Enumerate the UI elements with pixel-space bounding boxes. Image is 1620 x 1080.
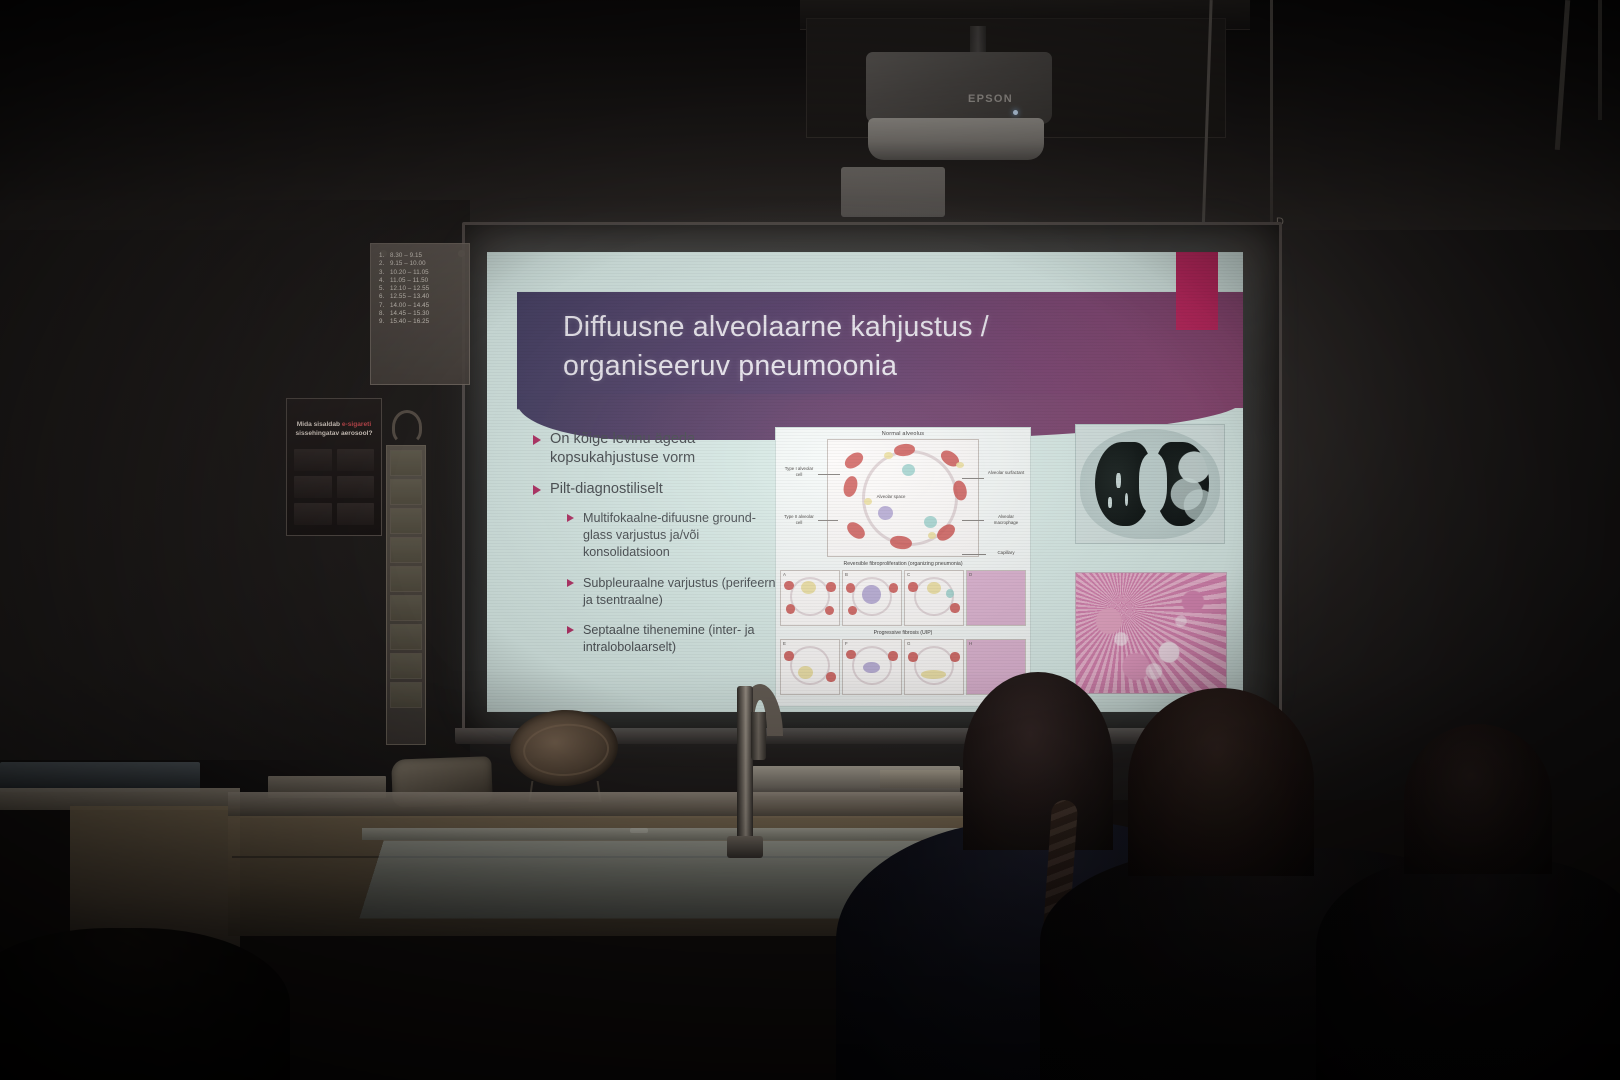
figure-panel: B: [842, 570, 902, 626]
hanging-cord-right-2: [1598, 0, 1602, 120]
capillary-blob-icon: [842, 449, 866, 471]
schedule-index: 1.: [379, 252, 390, 260]
poster-title-c: sissehingatav aerosool?: [296, 430, 373, 437]
panel-letter: F: [845, 641, 848, 646]
sink-rim: [362, 828, 1002, 840]
schedule-row: 8.14.45 – 15.30: [379, 310, 463, 318]
schedule-row: 4.11.05 – 11.50: [379, 277, 463, 285]
projector-body[interactable]: [866, 52, 1052, 124]
histology-image: [1075, 572, 1227, 694]
poster-content-grid: [294, 449, 374, 525]
surfactant-blob-icon: [884, 452, 893, 459]
ct-thorax-outline: [1080, 429, 1220, 539]
schedule-time: 8.30 – 9.15: [390, 252, 422, 259]
class-schedule-poster: 1.8.30 – 9.15 2.9.15 – 10.00 3.10.20 – 1…: [370, 243, 470, 385]
schedule-index: 6.: [379, 293, 390, 301]
schedule-row: 3.10.20 – 11.05: [379, 269, 463, 277]
bullet-item: Pilt-diagnostiliselt: [533, 480, 785, 499]
bullet-text: Pilt-diagnostiliselt: [550, 480, 663, 499]
classroom-scene: EPSON D Diffuusne alveolaarne kahjustus …: [0, 0, 1620, 1080]
sub-bullet-item: Multifokaalne-difuusne ground-glass varj…: [567, 510, 785, 561]
panel-letter: E: [783, 641, 786, 646]
figure-panel: G: [904, 639, 964, 695]
panel-letter: D: [969, 572, 972, 577]
schedule-time: 12.55 – 13.40: [390, 293, 429, 300]
schedule-index: 5.: [379, 285, 390, 293]
figure-label-macrophage: Alveolar macrophage: [986, 514, 1026, 525]
triangle-bullet-icon: [567, 579, 574, 587]
book-right: [880, 770, 966, 788]
wall-mounted-device-box[interactable]: [841, 167, 945, 217]
figure-panel-row-3: E F G: [776, 639, 1030, 695]
slide-title-line-1: Diffuusne alveolaarne kahjustus /: [563, 308, 1183, 347]
panel-letter: H: [969, 641, 972, 646]
ct-mediastinum: [1139, 453, 1167, 512]
schedule-row: 2.9.15 – 10.00: [379, 260, 463, 268]
ceiling-cable-secondary: [1270, 0, 1273, 222]
bullet-text: On kõige levinu ägeda kopsukahjustuse vo…: [550, 430, 785, 469]
lab-bench-top: [228, 792, 980, 818]
student-braid-head: [963, 672, 1113, 850]
schedule-index: 4.: [379, 277, 390, 285]
student-center-head: [1128, 688, 1314, 876]
figure-label-capillary: Capillary: [988, 550, 1024, 556]
projector-brand-label: EPSON: [968, 93, 1013, 105]
schedule-index: 8.: [379, 310, 390, 318]
capillary-blob-icon: [842, 475, 860, 499]
capillary-blob-icon: [844, 519, 868, 542]
panel-letter: G: [907, 641, 910, 646]
sub-bullet-item: Subpleuraalne varjustus (perifeerne ja t…: [567, 575, 785, 609]
figure-panel-histology: D: [966, 570, 1026, 626]
projector-lens-head: [868, 118, 1044, 160]
figure-panel: A: [780, 570, 840, 626]
projector-status-led-icon: [1013, 110, 1018, 115]
schedule-time: 9.15 – 10.00: [390, 260, 426, 267]
schedule-index: 3.: [379, 269, 390, 277]
figure-label-type1: Type I alveolar cell: [782, 466, 816, 477]
projected-slide[interactable]: Diffuusne alveolaarne kahjustus / organi…: [487, 252, 1243, 712]
panel-letter: A: [783, 572, 786, 577]
sub-bullet-item: Septaalne tihenemine (inter- ja intralob…: [567, 622, 785, 656]
sub-bullet-text: Septaalne tihenemine (inter- ja intralob…: [583, 622, 785, 656]
slide-title-line-2: organiseeruv pneumoonia: [563, 347, 1183, 386]
schedule-time: 14.45 – 15.30: [390, 310, 429, 317]
schedule-time: 14.00 – 14.45: [390, 302, 429, 309]
figure-panel: C: [904, 570, 964, 626]
figure-panel-row-2: A B C: [776, 570, 1030, 626]
schedule-index: 7.: [379, 302, 390, 310]
figure-caption-normal-alveolus: Normal alveolus: [776, 428, 1030, 439]
surfactant-blob-icon: [956, 462, 964, 468]
macrophage-blob-icon: [924, 516, 937, 528]
figure-caption-row2: Reversible fibroproliferation (organizin…: [776, 557, 1030, 570]
schedule-time: 15.40 – 16.25: [390, 318, 429, 325]
panel-letter: B: [845, 572, 848, 577]
slide-title: Diffuusne alveolaarne kahjustus / organi…: [563, 308, 1183, 386]
triangle-bullet-icon: [567, 514, 574, 522]
triangle-bullet-icon: [533, 485, 541, 495]
schedule-time: 10.20 – 11.05: [390, 269, 429, 276]
figure-panel: F: [842, 639, 902, 695]
faucet-spout: [751, 712, 766, 760]
figure-panel: E: [780, 639, 840, 695]
schedule-row: 1.8.30 – 9.15: [379, 252, 463, 260]
figure-caption-row3: Progressive fibrosis (UIP): [776, 626, 1030, 639]
student-left-silhouette: [0, 928, 290, 1080]
ecigarette-awareness-poster: Mida sisaldab e-sigareti sissehingatav a…: [286, 398, 382, 536]
figure-label-surfactant: Alveolar surfactant: [986, 470, 1026, 476]
schedule-row: 6.12.55 – 13.40: [379, 293, 463, 301]
type2-cell-icon: [878, 506, 893, 520]
poster-title-highlight: e-sigareti: [342, 421, 371, 428]
schedule-time: 11.05 – 11.50: [390, 277, 428, 284]
sub-bullet-text: Multifokaalne-difuusne ground-glass varj…: [583, 510, 785, 561]
schedule-time: 12.10 – 12.55: [390, 285, 429, 292]
panel-letter: C: [907, 572, 910, 577]
periodic-table-chart: [386, 445, 426, 745]
triangle-bullet-icon: [533, 435, 541, 445]
schedule-row: 7.14.00 – 14.45: [379, 302, 463, 310]
schedule-row: 5.12.10 – 12.55: [379, 285, 463, 293]
figure-label-space: Alveolar space: [871, 494, 911, 500]
schedule-row: 9.15.40 – 16.25: [379, 318, 463, 326]
student-right-body: [1316, 858, 1620, 1080]
student-right-head: [1404, 724, 1552, 874]
schedule-index: 9.: [379, 318, 390, 326]
macrophage-blob-icon: [902, 464, 915, 476]
poster-hook: [392, 410, 422, 444]
schedule-index: 2.: [379, 260, 390, 268]
slide-bullet-list: On kõige levinu ägeda kopsukahjustuse vo…: [533, 430, 785, 669]
poster-title-a: Mida sisaldab: [297, 421, 340, 428]
sub-bullet-text: Subpleuraalne varjustus (perifeerne ja t…: [583, 575, 785, 609]
triangle-bullet-icon: [567, 626, 574, 634]
poster-title: Mida sisaldab e-sigareti sissehingatav a…: [294, 421, 374, 439]
bullet-item: On kõige levinu ägeda kopsukahjustuse vo…: [533, 430, 785, 469]
surfactant-blob-icon: [928, 532, 936, 539]
figure-label-type2: Type II alveolar cell: [782, 514, 816, 525]
alveolus-figure: Normal alveolus Type I alveolar ce: [775, 427, 1031, 707]
faucet-base: [727, 836, 763, 858]
ct-scan-image: [1075, 424, 1225, 544]
